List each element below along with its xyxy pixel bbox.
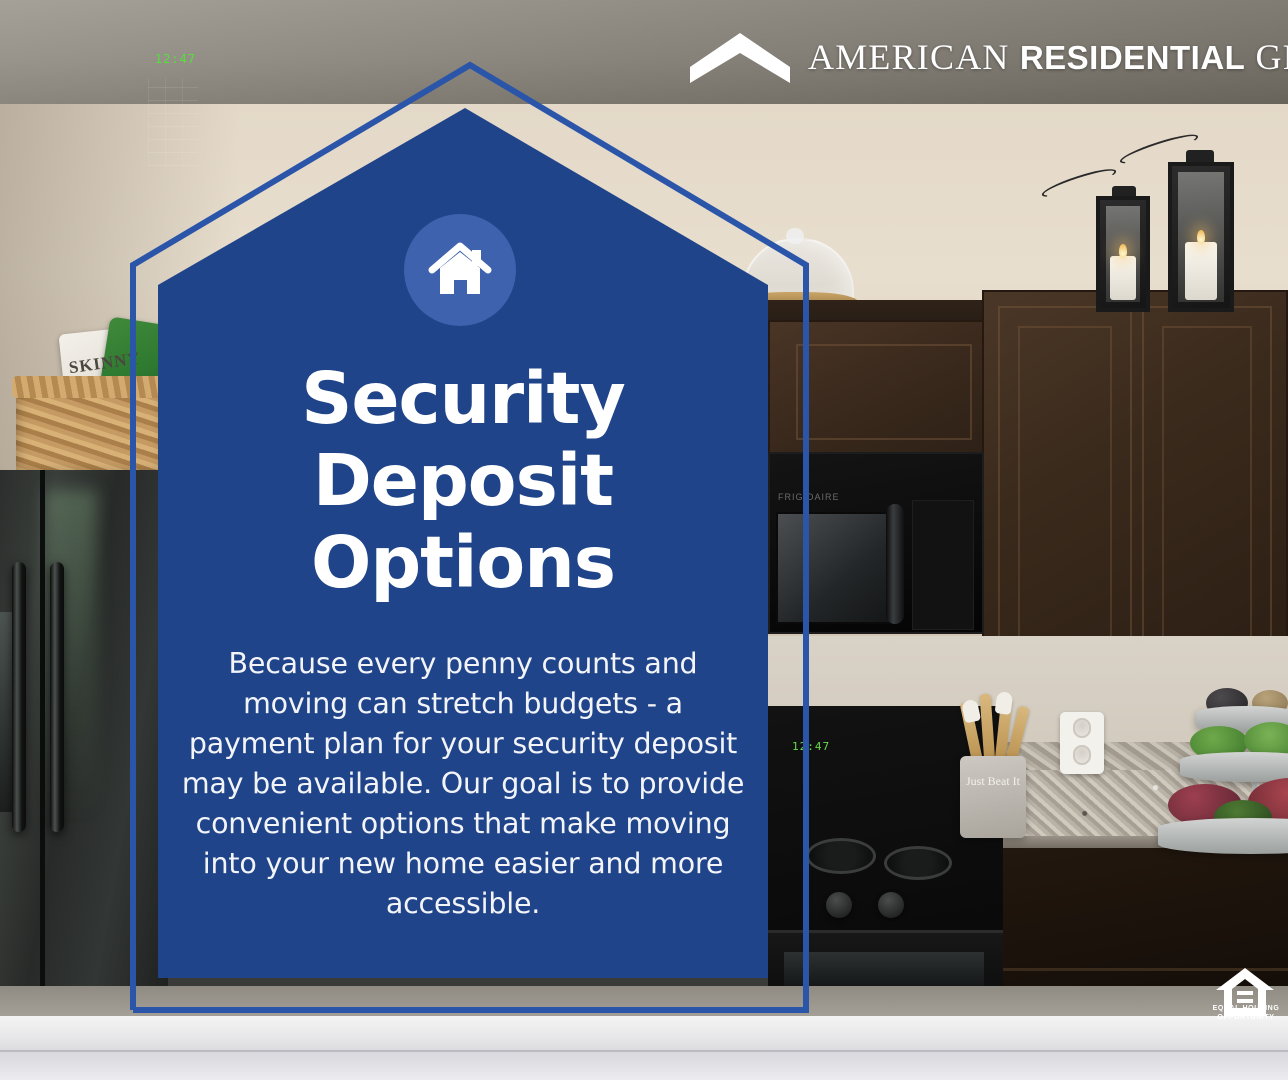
title-line-3: Options <box>158 522 768 604</box>
house-icon <box>428 238 492 302</box>
title-line-1: Security <box>158 358 768 440</box>
brand-logo: AMERICAN RESIDENTIAL GROUP <box>690 24 1270 90</box>
brand-logo-text: AMERICAN RESIDENTIAL GROUP <box>808 36 1288 78</box>
body-paragraph: Because every penny counts and moving ca… <box>176 644 750 924</box>
eho-caption-line-2: OPPORTUNITY <box>1196 1013 1288 1022</box>
social-graphic-canvas: SKINNY POP 12:47 <box>0 0 1288 1080</box>
chevron-roof-icon <box>690 31 790 83</box>
brand-name-american: AMERICAN <box>808 37 1020 77</box>
brand-name-group: GROUP <box>1245 37 1288 77</box>
eho-caption-line-1: EQUAL HOUSING <box>1196 1004 1288 1013</box>
page-title: Security Deposit Options <box>158 358 768 604</box>
house-icon-badge <box>404 214 516 326</box>
brand-name-residential: RESIDENTIAL <box>1020 39 1246 76</box>
eho-caption: EQUAL HOUSING OPPORTUNITY <box>1196 1004 1288 1022</box>
title-line-2: Deposit <box>158 440 768 522</box>
